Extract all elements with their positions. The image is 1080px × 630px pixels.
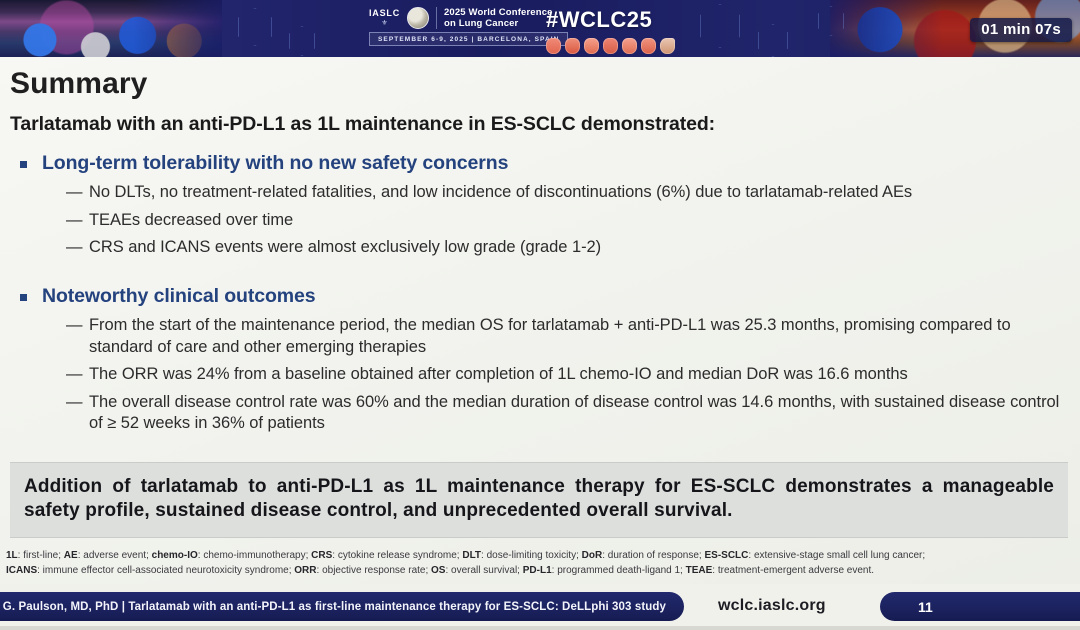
- iaslc-emblem-icon: ⚜: [369, 20, 400, 27]
- sub-bullet-text: TEAEs decreased over time: [89, 210, 1060, 232]
- sub-bullet-list: — From the start of the maintenance peri…: [66, 315, 1060, 435]
- logo-row: IASLC ⚜ 2025 World Conference on Lung Ca…: [369, 7, 568, 29]
- hexagon-decoration-icon: [289, 26, 315, 56]
- iaslc-logo-icon: IASLC ⚜: [369, 9, 400, 27]
- ribbon-topic-icon: [565, 38, 580, 54]
- dna-topic-icon: [603, 38, 618, 54]
- lung-topic-icon: [546, 38, 561, 54]
- bottom-edge-strip: [0, 626, 1080, 630]
- sub-bullet-text: CRS and ICANS events were almost exclusi…: [89, 237, 1060, 259]
- footnote-line-1: 1L: first-line; AE: adverse event; chemo…: [6, 549, 1074, 564]
- conference-name: 2025 World Conference on Lung Cancer: [436, 7, 553, 29]
- conference-hashtag: #WCLC25: [546, 9, 675, 31]
- sub-bullet-item: — TEAEs decreased over time: [66, 210, 1060, 232]
- em-dash-icon: —: [66, 364, 80, 386]
- square-bullet-icon: [20, 161, 27, 168]
- bullet-heading-text: Long-term tolerability with no new safet…: [42, 152, 508, 175]
- presenter-title-pill: lly G. Paulson, MD, PhD | Tarlatamab wit…: [0, 592, 684, 621]
- footnote-line-2: ICANS: immune effector cell-associated n…: [6, 564, 1074, 579]
- em-dash-icon: —: [66, 210, 80, 232]
- sub-bullet-item: — The ORR was 24% from a baseline obtain…: [66, 364, 1060, 386]
- presentation-viewer: IASLC ⚜ 2025 World Conference on Lung Ca…: [0, 0, 1080, 630]
- slide-lead-statement: Tarlatamab with an anti-PD-L1 as 1L main…: [10, 113, 715, 136]
- sub-bullet-item: — The overall disease control rate was 6…: [66, 392, 1060, 435]
- hexagon-decoration-icon: [758, 24, 788, 57]
- sub-bullet-text: No DLTs, no treatment-related fatalities…: [89, 182, 1060, 204]
- hexagon-decoration-icon: [700, 4, 740, 48]
- sub-bullet-item: — CRS and ICANS events were almost exclu…: [66, 237, 1060, 259]
- em-dash-icon: —: [66, 315, 80, 337]
- topic-icon-row: [546, 38, 675, 54]
- sub-bullet-item: — No DLTs, no treatment-related fataliti…: [66, 182, 1060, 204]
- pill-topic-icon: [622, 38, 637, 54]
- page-number: 11: [918, 599, 933, 615]
- conference-dates-location: SEPTEMBER 6-9, 2025 | BARCELONA, SPAIN: [369, 32, 568, 46]
- sub-bullet-text: The ORR was 24% from a baseline obtained…: [89, 364, 1060, 386]
- em-dash-icon: —: [66, 392, 80, 414]
- conference-logo-block: IASLC ⚜ 2025 World Conference on Lung Ca…: [369, 7, 568, 46]
- conference-name-line1: 2025 World Conference: [444, 7, 553, 18]
- conclusion-text: Addition of tarlatamab to anti-PD-L1 as …: [24, 475, 1054, 524]
- slide-footer: lly G. Paulson, MD, PhD | Tarlatamab wit…: [0, 584, 1080, 630]
- microscope-topic-icon: [584, 38, 599, 54]
- square-bullet-icon: [20, 294, 27, 301]
- bullet-heading: Noteworthy clinical outcomes: [20, 285, 1060, 308]
- handshake-topic-icon: [660, 38, 675, 54]
- sub-bullet-text: The overall disease control rate was 60%…: [89, 392, 1060, 435]
- page-number-pill: 11: [880, 592, 1080, 621]
- hexagon-decoration-icon: [238, 8, 272, 46]
- presenter-and-talk-title: lly G. Paulson, MD, PhD | Tarlatamab wit…: [0, 601, 666, 613]
- conference-banner: IASLC ⚜ 2025 World Conference on Lung Ca…: [0, 0, 1080, 57]
- session-timer: 01 min 07s: [970, 18, 1072, 42]
- hashtag-block: #WCLC25: [546, 9, 675, 54]
- sub-bullet-item: — From the start of the maintenance peri…: [66, 315, 1060, 358]
- sub-bullet-list: — No DLTs, no treatment-related fataliti…: [66, 182, 1060, 259]
- bullet-group: Long-term tolerability with no new safet…: [20, 152, 1060, 265]
- bullet-group: Noteworthy clinical outcomes — From the …: [20, 285, 1060, 441]
- slide-canvas: Summary Tarlatamab with an anti-PD-L1 as…: [0, 57, 1080, 584]
- em-dash-icon: —: [66, 237, 80, 259]
- briefcase-topic-icon: [641, 38, 656, 54]
- abbreviation-footnotes: 1L: first-line; AE: adverse event; chemo…: [6, 549, 1074, 578]
- bullet-heading: Long-term tolerability with no new safet…: [20, 152, 1060, 175]
- em-dash-icon: —: [66, 182, 80, 204]
- sub-bullet-text: From the start of the maintenance period…: [89, 315, 1060, 358]
- bullet-heading-text: Noteworthy clinical outcomes: [42, 285, 316, 308]
- conference-name-line2: on Lung Cancer: [444, 18, 553, 29]
- iaslc-wordmark: IASLC: [369, 8, 400, 18]
- globe-icon: [407, 7, 429, 29]
- slide-title: Summary: [10, 67, 147, 101]
- conclusion-callout: Addition of tarlatamab to anti-PD-L1 as …: [10, 462, 1068, 538]
- conference-url[interactable]: wclc.iaslc.org: [718, 597, 826, 615]
- banner-photo-left: [0, 0, 222, 57]
